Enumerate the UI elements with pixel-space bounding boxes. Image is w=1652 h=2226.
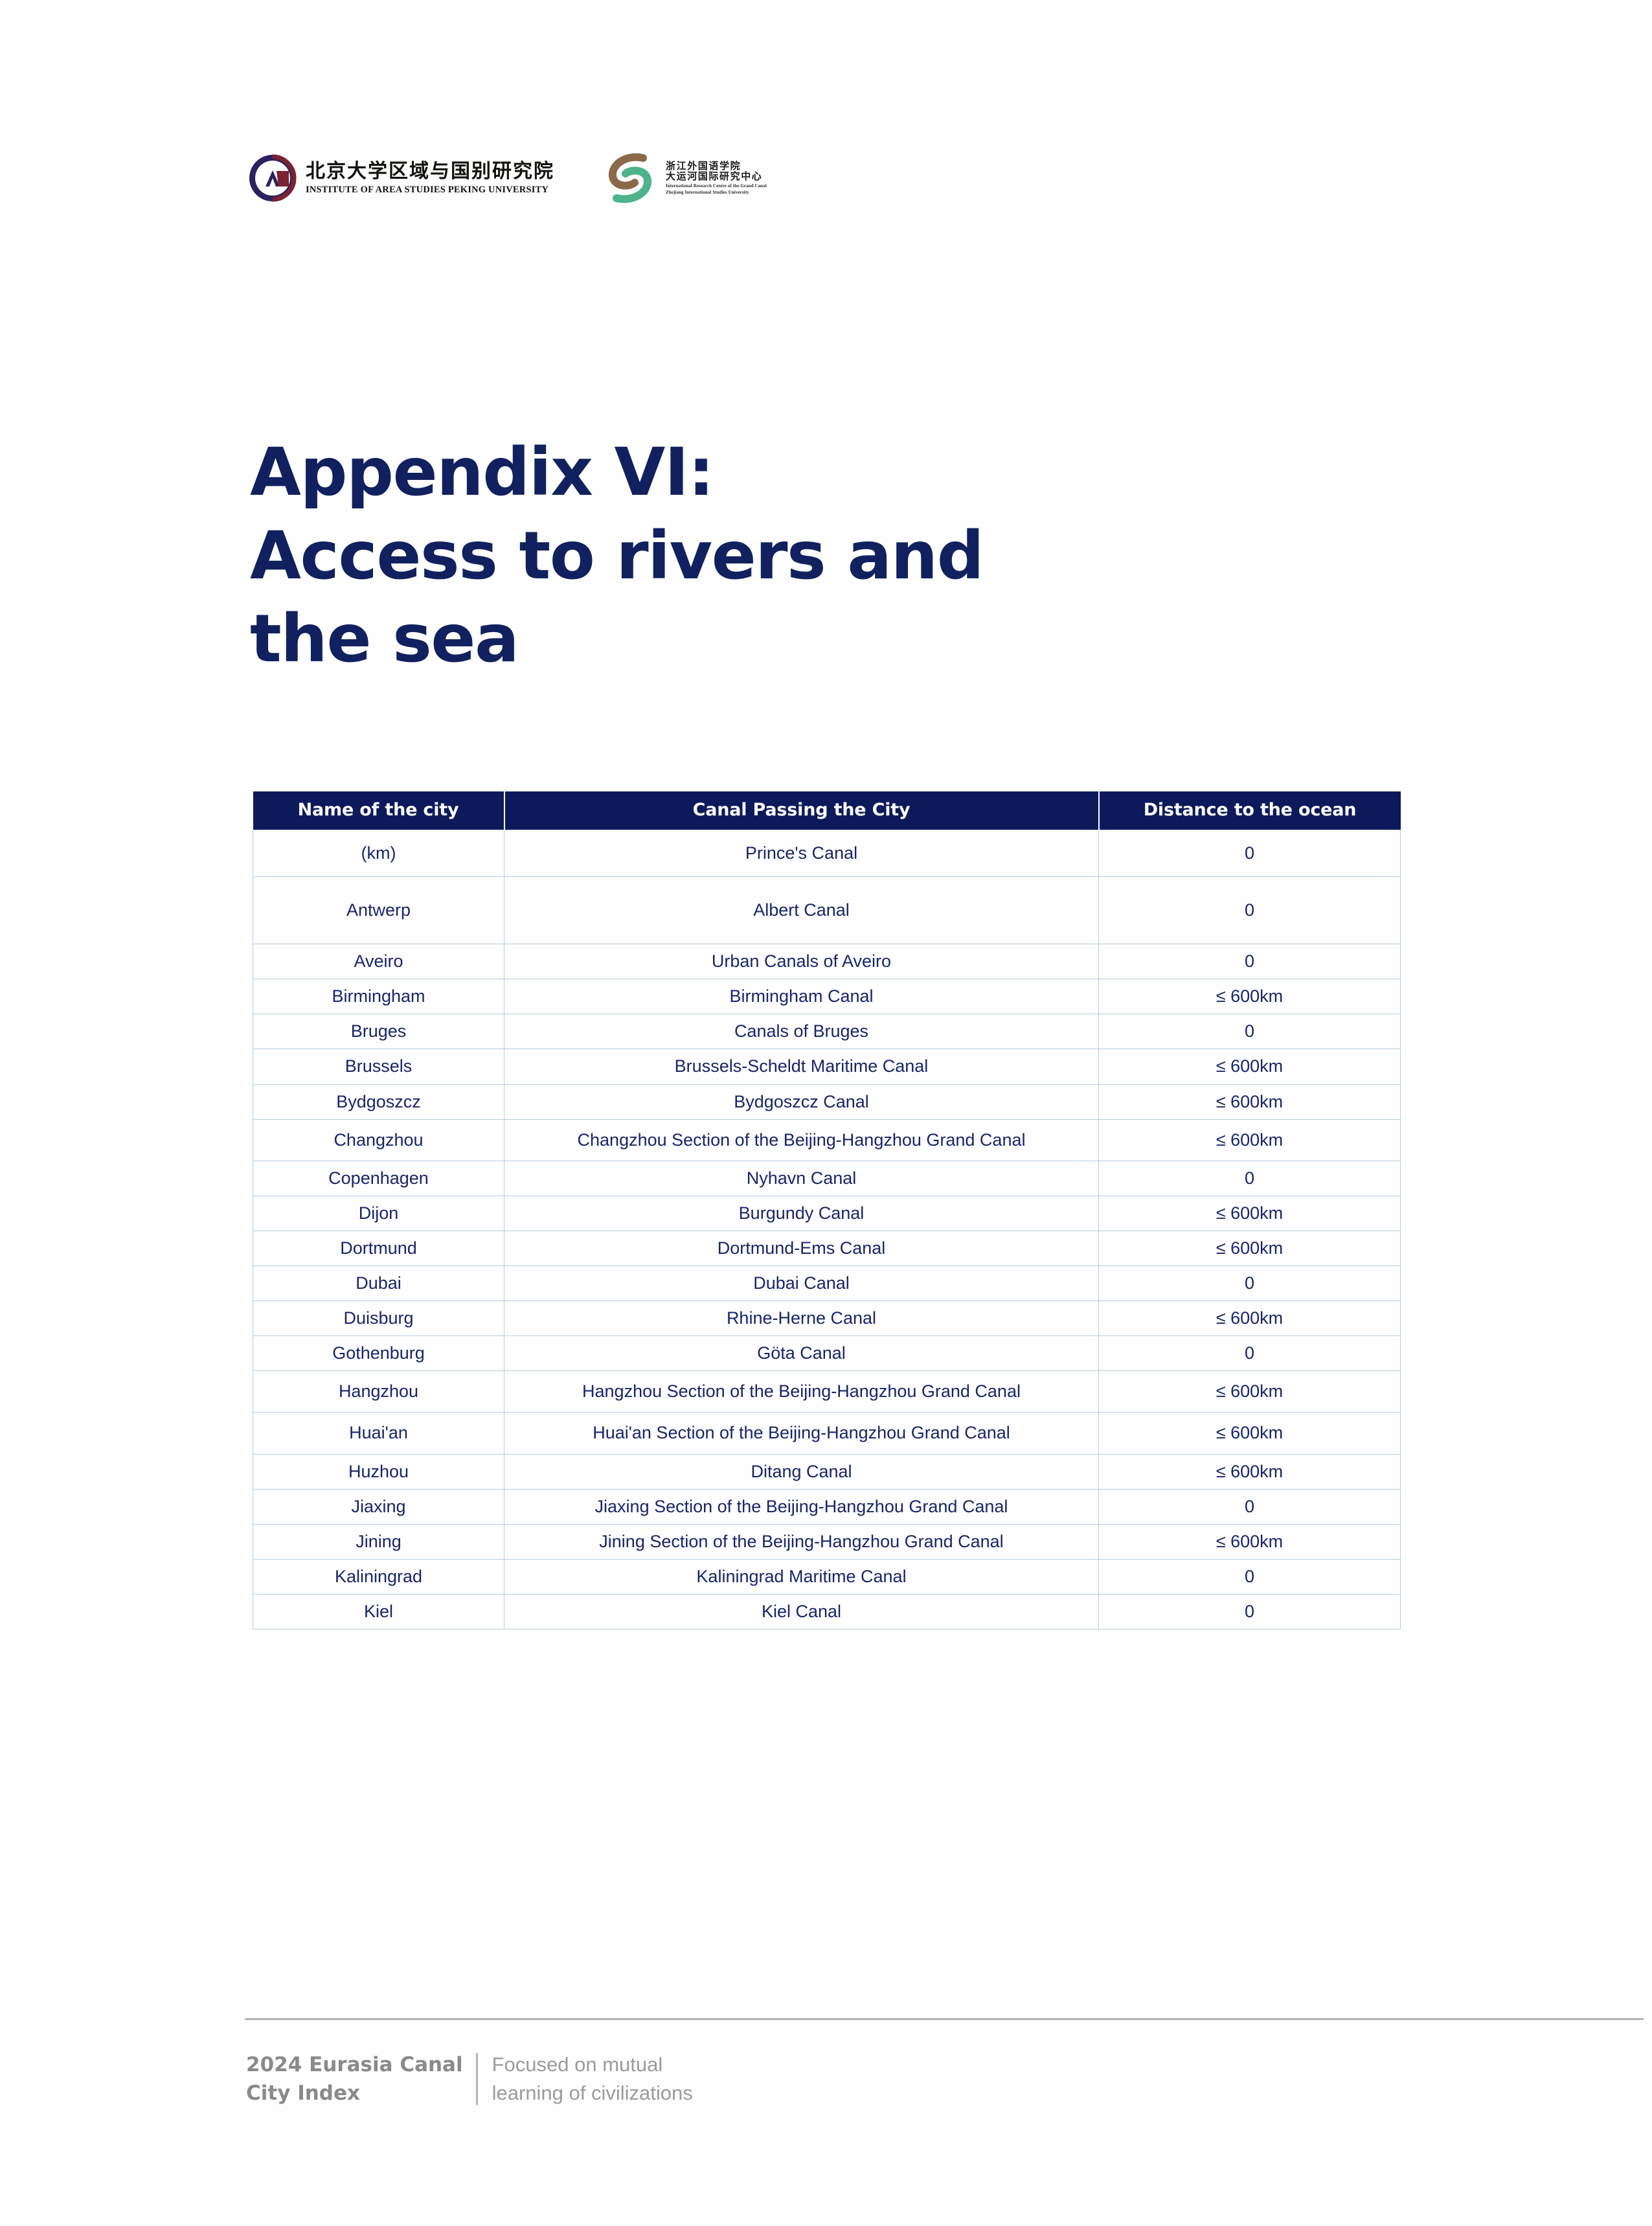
table-row: DubaiDubai Canal0 [253,1266,1401,1301]
cell-canal: Dubai Canal [504,1266,1099,1301]
cell-canal: Prince's Canal [504,830,1099,877]
table-row: HangzhouHangzhou Section of the Beijing-… [253,1371,1401,1413]
cell-city: Dubai [253,1266,504,1301]
zisu-logo-english-line1: International Research Centre of the Gra… [666,184,767,189]
footer-left-line-2: City Index [246,2079,463,2107]
table-row: DijonBurgundy Canal≤ 600km [253,1196,1401,1231]
cell-distance: 0 [1099,830,1401,877]
cell-distance: ≤ 600km [1099,1231,1401,1266]
zisu-logo-english-line2: Zhejiang International Studies Universit… [666,190,767,196]
table-row: (km)Prince's Canal0 [253,830,1401,877]
appendix-table: Name of the city Canal Passing the City … [253,791,1401,1630]
cell-canal: Huai'an Section of the Beijing-Hangzhou … [504,1413,1099,1454]
cell-canal: Birmingham Canal [504,979,1099,1014]
table-row: BirminghamBirmingham Canal≤ 600km [253,979,1401,1014]
zisu-logo-chinese-line2: 大运河国际研究中心 [666,171,767,181]
cell-canal: Ditang Canal [504,1454,1099,1489]
table-row: HuzhouDitang Canal≤ 600km [253,1454,1401,1489]
table-row: AntwerpAlbert Canal0 [253,877,1401,944]
cell-city: Kiel [253,1594,504,1629]
cell-distance: ≤ 600km [1099,1371,1401,1413]
cell-distance: ≤ 600km [1099,979,1401,1014]
table-row: BrusselsBrussels-Scheldt Maritime Canal≤… [253,1049,1401,1084]
cell-city: Birmingham [253,979,504,1014]
cell-canal: Urban Canals of Aveiro [504,944,1099,979]
cell-distance: ≤ 600km [1099,1196,1401,1231]
cell-distance: 0 [1099,1489,1401,1524]
cell-canal: Bydgoszcz Canal [504,1084,1099,1119]
table-row: DuisburgRhine-Herne Canal≤ 600km [253,1301,1401,1336]
cell-city: Dijon [253,1196,504,1231]
table-row: GothenburgGöta Canal0 [253,1336,1401,1371]
table-row: BydgoszczBydgoszcz Canal≤ 600km [253,1084,1401,1119]
pku-logo-english: INSTITUTE OF AREA STUDIES PEKING UNIVERS… [306,185,554,195]
column-header-distance: Distance to the ocean [1099,791,1401,830]
table-row: DortmundDortmund-Ems Canal≤ 600km [253,1231,1401,1266]
table-row: Huai'anHuai'an Section of the Beijing-Ha… [253,1413,1401,1454]
table-body: (km)Prince's Canal0AntwerpAlbert Canal0A… [253,830,1401,1630]
cell-canal: Burgundy Canal [504,1196,1099,1231]
cell-canal: Canals of Bruges [504,1014,1099,1049]
column-header-city: Name of the city [253,791,504,830]
table-row: JiaxingJiaxing Section of the Beijing-Ha… [253,1489,1401,1524]
cell-city: Copenhagen [253,1161,504,1196]
cell-canal: Kaliningrad Maritime Canal [504,1559,1099,1594]
cell-distance: 0 [1099,1161,1401,1196]
table-row: JiningJining Section of the Beijing-Hang… [253,1524,1401,1559]
cell-city: Duisburg [253,1301,504,1336]
cell-city: Huzhou [253,1454,504,1489]
footer: 2024 Eurasia Canal City Index Focused on… [246,2050,693,2107]
cell-distance: 0 [1099,877,1401,944]
page-title-line-2: Access to rivers and [250,515,1286,598]
cell-distance: ≤ 600km [1099,1413,1401,1454]
table-header: Name of the city Canal Passing the City … [253,791,1401,830]
pku-ias-circular-monogram-icon [246,152,299,205]
cell-distance: ≤ 600km [1099,1049,1401,1084]
pku-ias-logo: 北京大学区域与国别研究院 INSTITUTE OF AREA STUDIES P… [246,152,554,205]
cell-city: Antwerp [253,877,504,944]
cell-city: Brussels [253,1049,504,1084]
table-row: KielKiel Canal0 [253,1594,1401,1629]
footer-divider [245,2018,1644,2020]
cell-city: Huai'an [253,1413,504,1454]
zisu-logo-text: 浙江外国语学院 大运河国际研究中心 International Research… [666,161,767,195]
cell-city: (km) [253,830,504,877]
cell-distance: 0 [1099,944,1401,979]
column-header-canal: Canal Passing the City [504,791,1099,830]
cell-city: Gothenburg [253,1336,504,1371]
cell-distance: 0 [1099,1559,1401,1594]
cell-city: Hangzhou [253,1371,504,1413]
cell-city: Kaliningrad [253,1559,504,1594]
footer-left-line-1: 2024 Eurasia Canal [246,2050,463,2079]
footer-right-line-1: Focused on mutual [492,2050,693,2079]
cell-city: Bydgoszcz [253,1084,504,1119]
cell-canal: Albert Canal [504,877,1099,944]
cell-distance: 0 [1099,1266,1401,1301]
page-title: Appendix VI: Access to rivers and the se… [250,431,1286,681]
cell-city: Bruges [253,1014,504,1049]
cell-distance: ≤ 600km [1099,1301,1401,1336]
cell-canal: Brussels-Scheldt Maritime Canal [504,1049,1099,1084]
cell-canal: Kiel Canal [504,1594,1099,1629]
cell-distance: 0 [1099,1594,1401,1629]
cell-canal: Hangzhou Section of the Beijing-Hangzhou… [504,1371,1099,1413]
table-row: KaliningradKaliningrad Maritime Canal0 [253,1559,1401,1594]
cell-distance: 0 [1099,1014,1401,1049]
table-row: BrugesCanals of Bruges0 [253,1014,1401,1049]
cell-distance: 0 [1099,1336,1401,1371]
cell-canal: Göta Canal [504,1336,1099,1371]
cell-city: Jining [253,1524,504,1559]
footer-tagline: Focused on mutual learning of civilizati… [478,2050,693,2107]
document-page: 北京大学区域与国别研究院 INSTITUTE OF AREA STUDIES P… [0,0,1652,2226]
footer-publication-title: 2024 Eurasia Canal City Index [246,2050,476,2107]
zisu-grand-canal-brushstroke-icon [602,150,658,206]
cell-distance: ≤ 600km [1099,1084,1401,1119]
cell-canal: Jiaxing Section of the Beijing-Hangzhou … [504,1489,1099,1524]
cell-canal: Nyhavn Canal [504,1161,1099,1196]
table-header-row: Name of the city Canal Passing the City … [253,791,1401,830]
table-row: CopenhagenNyhavn Canal0 [253,1161,1401,1196]
pku-logo-text: 北京大学区域与国别研究院 INSTITUTE OF AREA STUDIES P… [306,162,554,195]
zisu-grand-canal-logo: 浙江外国语学院 大运河国际研究中心 International Research… [602,150,767,206]
zisu-logo-chinese-line1: 浙江外国语学院 [666,161,767,171]
logo-bar: 北京大学区域与国别研究院 INSTITUTE OF AREA STUDIES P… [246,150,767,206]
page-title-line-3: the sea [250,598,1286,681]
footer-right-line-2: learning of civilizations [492,2079,693,2107]
cell-distance: ≤ 600km [1099,1119,1401,1161]
cell-city: Aveiro [253,944,504,979]
table-row: ChangzhouChangzhou Section of the Beijin… [253,1119,1401,1161]
cell-city: Changzhou [253,1119,504,1161]
pku-logo-chinese: 北京大学区域与国别研究院 [306,162,554,181]
cell-city: Jiaxing [253,1489,504,1524]
cell-distance: ≤ 600km [1099,1454,1401,1489]
page-title-line-1: Appendix VI: [250,431,1286,515]
table-row: AveiroUrban Canals of Aveiro0 [253,944,1401,979]
cell-distance: ≤ 600km [1099,1524,1401,1559]
cell-canal: Jining Section of the Beijing-Hangzhou G… [504,1524,1099,1559]
cell-canal: Rhine-Herne Canal [504,1301,1099,1336]
cell-canal: Changzhou Section of the Beijing-Hangzho… [504,1119,1099,1161]
cell-canal: Dortmund-Ems Canal [504,1231,1099,1266]
cell-city: Dortmund [253,1231,504,1266]
